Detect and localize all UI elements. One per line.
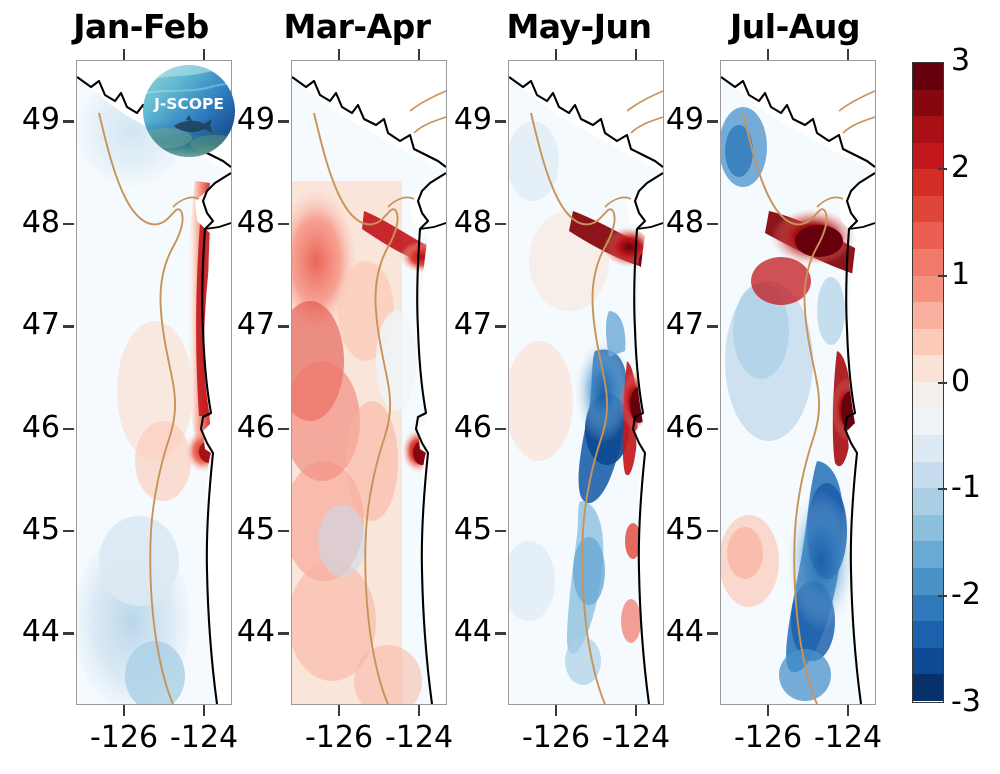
colorbar-tick-label: 2 xyxy=(951,153,970,183)
colorbar-tick xyxy=(938,488,947,490)
colorbar-segment xyxy=(913,143,943,170)
colorbar-tick-label: 1 xyxy=(951,260,970,290)
y-tick-label: 44 xyxy=(0,617,60,647)
colorbar-segment xyxy=(913,329,943,356)
panel-title-may-jun: May-Jun xyxy=(479,10,679,44)
y-tick-label: 45 xyxy=(638,515,704,545)
y-tick-mark xyxy=(495,120,506,122)
y-tick-label: 46 xyxy=(638,413,704,443)
map-svg-jan-feb xyxy=(77,61,231,704)
map-jan-feb[interactable] xyxy=(76,60,232,705)
map-svg-jul-aug xyxy=(721,61,875,704)
colorbar-segment xyxy=(913,249,943,276)
colorbar-segment xyxy=(913,462,943,489)
colorbar-segment xyxy=(913,674,943,701)
colorbar-segment xyxy=(913,276,943,303)
y-tick-mark xyxy=(278,428,289,430)
x-tick-mark-top xyxy=(338,49,340,60)
y-tick-mark xyxy=(495,325,506,327)
colorbar-tick xyxy=(938,275,947,277)
colorbar-segment xyxy=(913,648,943,675)
map-may-jun[interactable] xyxy=(508,60,664,705)
y-tick-label: 47 xyxy=(209,310,275,340)
y-tick-mark xyxy=(495,223,506,225)
panel-title-mar-apr: Mar-Apr xyxy=(262,10,452,44)
x-tick-mark-top xyxy=(555,49,557,60)
y-tick-mark xyxy=(278,120,289,122)
map-svg-may-jun xyxy=(509,61,663,704)
y-tick-label: 47 xyxy=(426,310,492,340)
y-tick-label: 46 xyxy=(0,413,60,443)
colorbar-tick xyxy=(938,595,947,597)
y-tick-mark xyxy=(63,428,74,430)
y-tick-mark xyxy=(707,223,718,225)
colorbar-tick-label: -2 xyxy=(951,580,981,610)
colorbar-segment xyxy=(913,169,943,196)
y-tick-mark xyxy=(707,530,718,532)
y-tick-label: 49 xyxy=(638,105,704,135)
map-svg-mar-apr xyxy=(292,61,446,704)
x-tick-mark-top xyxy=(418,49,420,60)
y-tick-label: 45 xyxy=(426,515,492,545)
y-tick-mark xyxy=(63,223,74,225)
colorbar-segment xyxy=(913,409,943,436)
y-tick-label: 48 xyxy=(0,208,60,238)
x-tick-mark xyxy=(635,705,637,716)
y-tick-label: 48 xyxy=(426,208,492,238)
y-tick-mark xyxy=(495,530,506,532)
y-tick-mark xyxy=(707,120,718,122)
x-tick-mark xyxy=(203,705,205,716)
y-tick-mark xyxy=(495,428,506,430)
x-tick-mark-top xyxy=(203,49,205,60)
y-tick-label: 46 xyxy=(426,413,492,443)
colorbar-segment xyxy=(913,63,943,90)
colorbar-segment xyxy=(913,302,943,329)
y-tick-label: 44 xyxy=(426,617,492,647)
y-tick-label: 46 xyxy=(209,413,275,443)
colorbar-segment xyxy=(913,222,943,249)
y-tick-label: 49 xyxy=(426,105,492,135)
colorbar-segment xyxy=(913,541,943,568)
colorbar-segment xyxy=(913,488,943,515)
colorbar-segment xyxy=(913,116,943,143)
colorbar-segment xyxy=(913,621,943,648)
colorbar-segment xyxy=(913,382,943,409)
y-tick-label: 47 xyxy=(638,310,704,340)
y-tick-label: 45 xyxy=(0,515,60,545)
y-tick-mark xyxy=(63,325,74,327)
colorbar-segment xyxy=(913,435,943,462)
x-tick-mark-top xyxy=(847,49,849,60)
x-tick-mark xyxy=(767,705,769,716)
x-tick-mark xyxy=(847,705,849,716)
y-tick-mark xyxy=(278,530,289,532)
colorbar-tick xyxy=(938,168,947,170)
y-tick-label: 48 xyxy=(209,208,275,238)
map-mar-apr[interactable] xyxy=(291,60,447,705)
y-tick-mark xyxy=(63,530,74,532)
colorbar-tick-label: 0 xyxy=(951,367,970,397)
x-tick-mark xyxy=(555,705,557,716)
panel-title-jan-feb: Jan-Feb xyxy=(46,10,236,44)
colorbar-segment xyxy=(913,90,943,117)
y-tick-mark xyxy=(278,632,289,634)
colorbar-tick-label: -1 xyxy=(951,473,981,503)
x-tick-mark-top xyxy=(123,49,125,60)
y-tick-mark xyxy=(278,223,289,225)
x-tick-mark xyxy=(418,705,420,716)
y-tick-mark xyxy=(707,428,718,430)
y-tick-label: 49 xyxy=(209,105,275,135)
x-tick-mark xyxy=(338,705,340,716)
colorbar-tick-label: 3 xyxy=(951,46,970,76)
colorbar-tick xyxy=(938,382,947,384)
colorbar-tick-label: -3 xyxy=(951,687,981,717)
x-tick-mark xyxy=(123,705,125,716)
y-tick-label: 45 xyxy=(209,515,275,545)
figure-canvas: Jan-Feb xyxy=(0,0,1000,774)
map-jul-aug[interactable] xyxy=(720,60,876,705)
x-tick-label: -124 xyxy=(142,723,266,753)
x-tick-label: -124 xyxy=(574,723,698,753)
y-tick-label: 49 xyxy=(0,105,60,135)
y-tick-label: 48 xyxy=(638,208,704,238)
y-tick-mark xyxy=(63,120,74,122)
y-tick-mark xyxy=(707,325,718,327)
panel-title-jul-aug: Jul-Aug xyxy=(695,10,895,44)
colorbar-segment xyxy=(913,568,943,595)
colorbar-segment xyxy=(913,515,943,542)
x-tick-label: -124 xyxy=(786,723,910,753)
y-tick-label: 44 xyxy=(638,617,704,647)
colorbar-segment xyxy=(913,196,943,223)
colorbar-segment xyxy=(913,595,943,622)
y-tick-mark xyxy=(707,632,718,634)
y-tick-label: 47 xyxy=(0,310,60,340)
x-tick-mark-top xyxy=(635,49,637,60)
y-tick-mark xyxy=(495,632,506,634)
y-tick-label: 44 xyxy=(209,617,275,647)
x-tick-label: -124 xyxy=(357,723,481,753)
colorbar-segment xyxy=(913,355,943,382)
x-tick-mark-top xyxy=(767,49,769,60)
y-tick-mark xyxy=(63,632,74,634)
y-tick-mark xyxy=(278,325,289,327)
